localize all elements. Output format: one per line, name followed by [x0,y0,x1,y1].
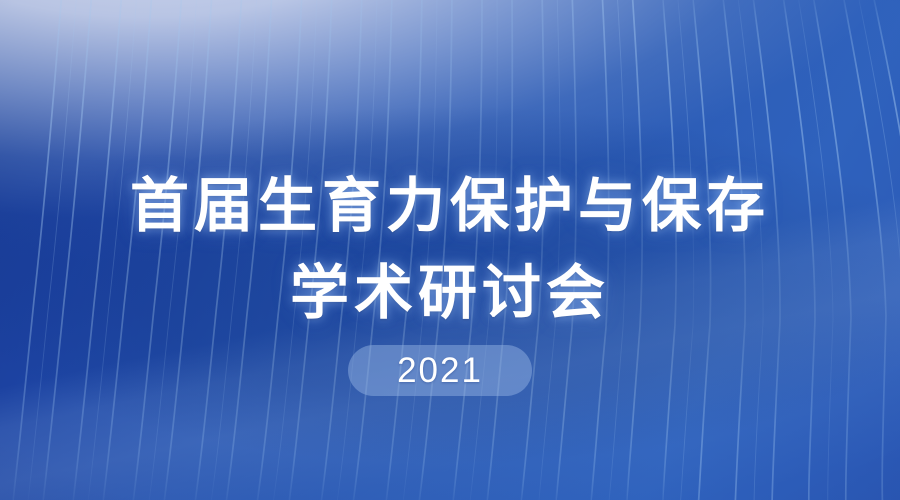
year-badge: 2021 [348,345,532,396]
banner-title-line-2: 学术研讨会 [0,259,900,327]
banner-title-line-1: 首届生育力保护与保存 [0,172,900,240]
conference-banner: 首届生育力保护与保存 学术研讨会 2021 [0,0,900,500]
banner-content: 首届生育力保护与保存 学术研讨会 2021 [0,0,900,500]
year-badge-label: 2021 [397,353,483,388]
